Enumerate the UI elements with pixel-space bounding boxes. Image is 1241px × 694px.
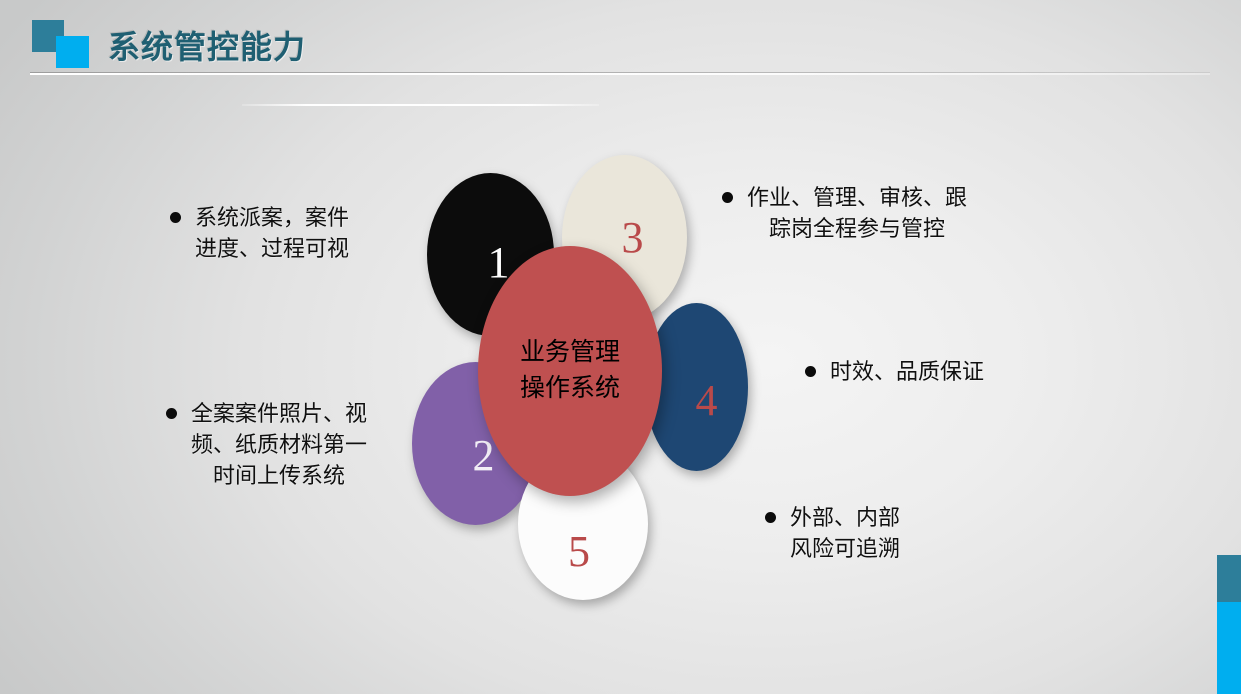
diagram-core[interactable]: 业务管理 操作系统 [478,246,662,496]
callout-4-text: 时效、品质保证 [830,356,984,387]
bullet-dot-icon [722,192,733,203]
callout-5: 外部、内部 风险可追溯 [765,502,995,564]
edge-accent-dark [1217,555,1241,602]
bullet-dot-icon [765,512,776,523]
callout-3-text: 作业、管理、审核、跟 踪岗全程参与管控 [747,182,967,244]
petal-5-number: 5 [568,530,590,574]
callout-2: 全案案件照片、视 频、纸质材料第一 时间上传系统 [166,398,428,492]
edge-accent-bright [1217,602,1241,694]
petal-diagram: 1 3 2 4 5 业务管理 操作系统 [0,0,1241,694]
diagram-core-label: 业务管理 操作系统 [520,335,620,408]
callout-1: 系统派案，案件 进度、过程可视 [170,202,420,264]
petal-2-number: 2 [473,434,495,478]
bullet-dot-icon [805,366,816,377]
callout-3: 作业、管理、审核、跟 踪岗全程参与管控 [722,182,1042,244]
petal-3-number: 3 [622,216,644,260]
callout-2-text: 全案案件照片、视 频、纸质材料第一 时间上传系统 [191,398,367,492]
slide-canvas: 系统管控能力 1 3 2 4 5 业务管理 操作系统 系统派案，案件 进度、过程… [0,0,1241,694]
petal-4-number: 4 [696,379,718,423]
bullet-dot-icon [170,212,181,223]
callout-1-text: 系统派案，案件 进度、过程可视 [195,202,349,264]
petal-1-number: 1 [488,241,510,285]
bullet-dot-icon [166,408,177,419]
callout-4: 时效、品质保证 [805,356,1050,387]
callout-5-text: 外部、内部 风险可追溯 [790,502,900,564]
